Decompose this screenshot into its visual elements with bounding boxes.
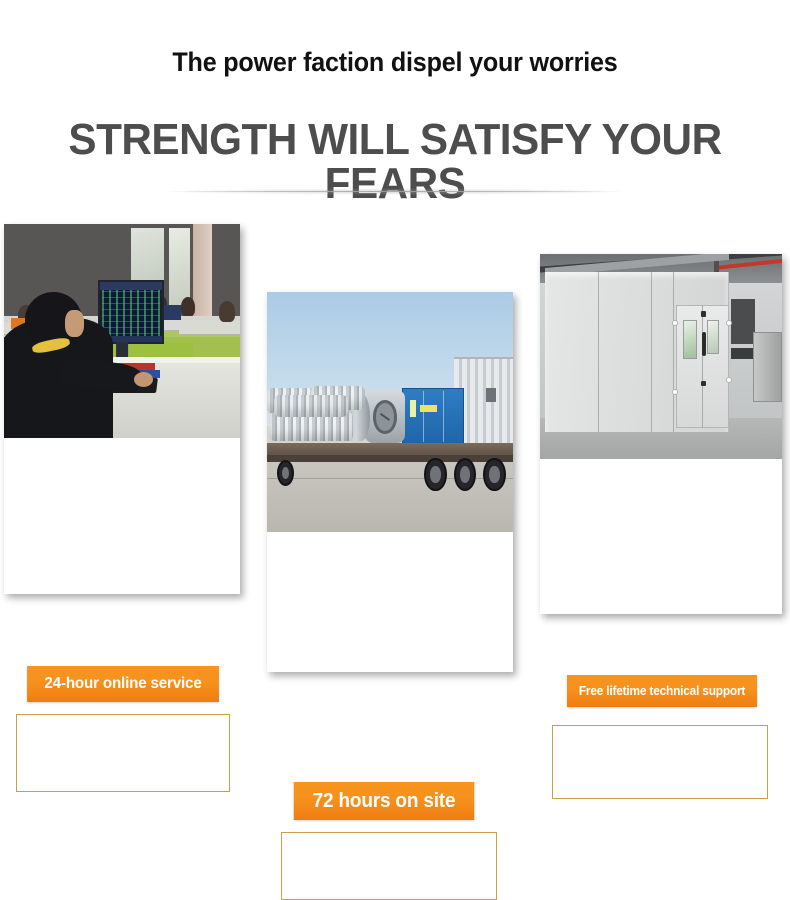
card-1-badge[interactable]: 24-hour online service — [27, 666, 219, 702]
feature-card-2[interactable]: 72 hours on site — [267, 292, 513, 672]
feature-card-1[interactable]: 24-hour online service — [4, 224, 240, 594]
office-workstation-illustration — [4, 224, 240, 438]
truck-delivery-illustration — [267, 292, 513, 532]
card-3-photo — [540, 254, 782, 459]
card-2-note-box[interactable] — [281, 832, 497, 900]
card-1-note-box[interactable] — [16, 714, 230, 792]
header-divider — [95, 188, 695, 197]
card-3-note-box[interactable] — [552, 725, 768, 799]
card-2-photo — [267, 292, 513, 532]
card-3-badge[interactable]: Free lifetime technical support — [567, 675, 757, 707]
banner-header: The power faction dispel your worries ST… — [0, 0, 790, 205]
cleanroom-booth-illustration — [540, 254, 782, 459]
feature-card-3[interactable]: Free lifetime technical support — [540, 254, 782, 614]
promo-banner: The power faction dispel your worries ST… — [0, 0, 790, 713]
banner-subtitle: The power faction dispel your worries — [28, 49, 763, 76]
card-2-badge[interactable]: 72 hours on site — [294, 782, 475, 820]
card-1-photo — [4, 224, 240, 438]
